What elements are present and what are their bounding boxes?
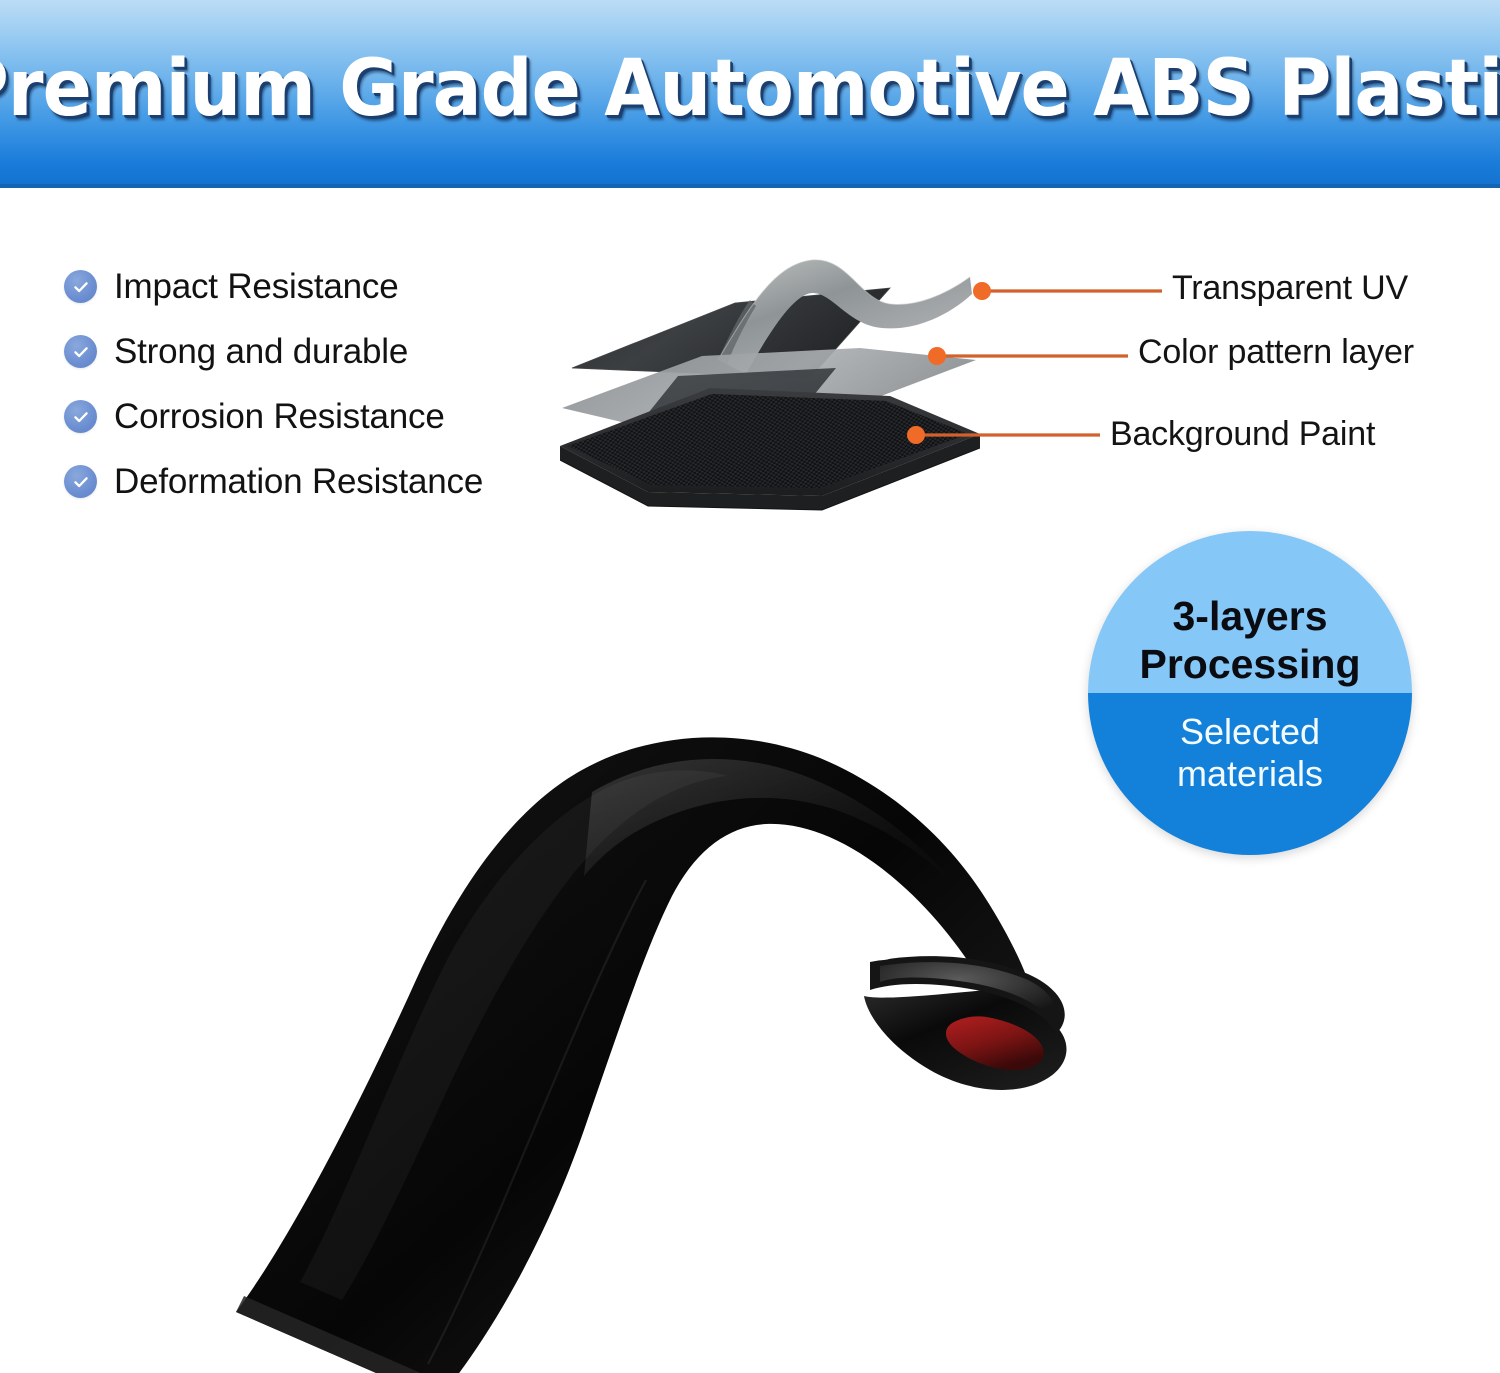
badge-top-half: 3-layers Processing: [1088, 531, 1412, 693]
badge-bottom-line-1: Selected: [1180, 711, 1320, 753]
callout-label-transparent-uv: Transparent UV: [1172, 269, 1408, 308]
feature-item-label: Corrosion Resistance: [114, 397, 445, 437]
feature-item-label: Impact Resistance: [114, 267, 399, 307]
badge-bottom-line-2: materials: [1177, 753, 1323, 795]
header-banner: Premium Grade Automotive ABS Plastic: [0, 0, 1500, 188]
check-circle-icon: [64, 400, 97, 433]
check-circle-icon: [64, 270, 97, 303]
check-circle-icon: [64, 335, 97, 368]
feature-item-label: Strong and durable: [114, 332, 408, 372]
product-photo: [180, 700, 1140, 1373]
badge-top-line-1: 3-layers: [1172, 593, 1327, 641]
feature-item-deformation-resistance: Deformation Resistance: [64, 449, 584, 514]
feature-item-label: Deformation Resistance: [114, 462, 483, 502]
page-title: Premium Grade Automotive ABS Plastic: [53, 0, 1448, 184]
feature-item-strong-and-durable: Strong and durable: [64, 319, 584, 384]
callout-label-color-pattern-layer: Color pattern layer: [1138, 333, 1414, 372]
callout-label-background-paint: Background Paint: [1110, 415, 1375, 454]
feature-item-corrosion-resistance: Corrosion Resistance: [64, 384, 584, 449]
layer-stack-illustration: [560, 248, 980, 518]
badge-top-line-2: Processing: [1139, 641, 1360, 689]
check-circle-icon: [64, 465, 97, 498]
feature-item-impact-resistance: Impact Resistance: [64, 254, 584, 319]
feature-list: Impact Resistance Strong and durable Cor…: [64, 254, 584, 514]
